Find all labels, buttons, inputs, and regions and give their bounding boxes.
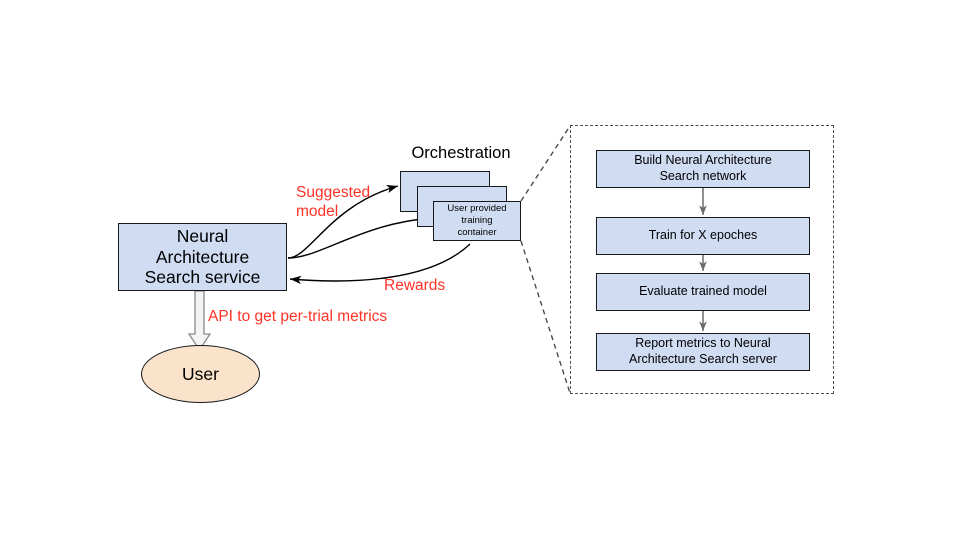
curved-arrow-rewards (290, 244, 470, 281)
annotation-rewards: Rewards (384, 277, 445, 296)
node-user[interactable]: User (141, 345, 260, 403)
block-arrow-down-icon (189, 291, 210, 350)
flow-step-report-metrics[interactable]: Report metrics to Neural Architecture Se… (596, 333, 810, 371)
dashed-connector-bottom (521, 241, 570, 393)
flow-step-label-3: Report metrics to Neural Architecture Se… (629, 336, 777, 367)
dashed-connector-top (521, 126, 570, 201)
flow-step-label-0: Build Neural Architecture Search network (634, 153, 772, 184)
annotation-suggested-model: Suggested model (296, 184, 396, 221)
node-label-nas-service: Neural Architecture Search service (119, 226, 286, 288)
orchestration-stack-box-3-user-provided-training-container[interactable]: User provided training container (433, 201, 521, 241)
orchestration-container-label: User provided training container (447, 203, 506, 239)
diagram-canvas: Neural Architecture Search service User … (0, 0, 960, 540)
curved-arrow-suggested-model-bottom (288, 218, 431, 258)
flow-step-train-epochs[interactable]: Train for X epoches (596, 217, 810, 255)
orchestration-title: Orchestration (401, 144, 521, 163)
flow-step-label-2: Evaluate trained model (639, 284, 767, 300)
flow-step-evaluate-model[interactable]: Evaluate trained model (596, 273, 810, 311)
node-label-user: User (182, 364, 219, 385)
annotation-api-to-get-per-trial-metrics: API to get per-trial metrics (208, 308, 387, 327)
flow-step-label-1: Train for X epoches (649, 228, 758, 244)
node-neural-architecture-search-service[interactable]: Neural Architecture Search service (118, 223, 287, 291)
flow-step-build-network[interactable]: Build Neural Architecture Search network (596, 150, 810, 188)
